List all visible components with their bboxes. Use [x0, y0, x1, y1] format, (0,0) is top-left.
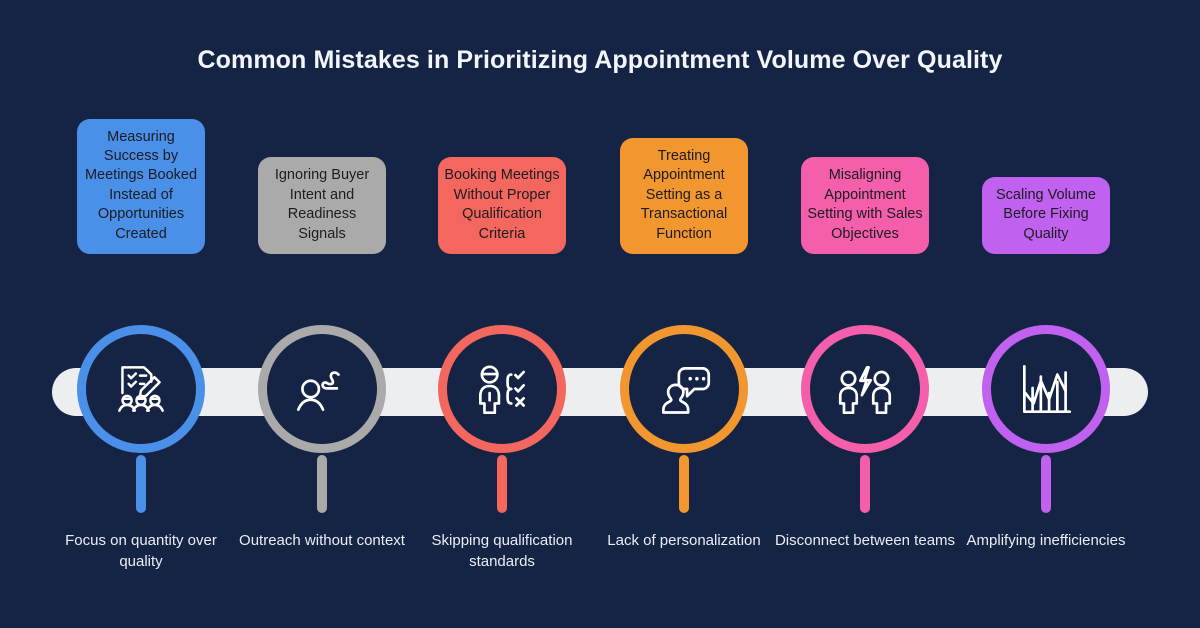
checklist-pencil-people-icon — [108, 356, 174, 422]
two-people-lightning-icon — [832, 356, 898, 422]
bar-chart-zigzag-icon — [1013, 356, 1079, 422]
step-circle-4[interactable] — [620, 325, 748, 453]
person-scribble-signal-icon — [289, 356, 355, 422]
connector-stem-bottom-2 — [317, 455, 327, 513]
step-caption-3: Skipping qualification standards — [409, 530, 595, 572]
step-caption-1: Focus on quantity over quality — [48, 530, 234, 572]
step-circle-2[interactable] — [258, 325, 386, 453]
step-circle-1[interactable] — [77, 325, 205, 453]
step-circle-5[interactable] — [801, 325, 929, 453]
person-check-cross-icon — [469, 356, 535, 422]
step-caption-5: Disconnect between teams — [772, 530, 958, 551]
step-card-6[interactable]: Scaling Volume Before Fixing Quality — [982, 177, 1110, 254]
step-card-5[interactable]: Misaligning Appointment Setting with Sal… — [801, 157, 929, 254]
steps-container: Measuring Success by Meetings Booked Ins… — [0, 0, 1200, 628]
step-card-2[interactable]: Ignoring Buyer Intent and Readiness Sign… — [258, 157, 386, 254]
connector-stem-bottom-1 — [136, 455, 146, 513]
step-2: Ignoring Buyer Intent and Readiness Sign… — [227, 0, 417, 628]
step-circle-6[interactable] — [982, 325, 1110, 453]
step-circle-3[interactable] — [438, 325, 566, 453]
step-4: Treating Appointment Setting as a Transa… — [589, 0, 779, 628]
step-card-1[interactable]: Measuring Success by Meetings Booked Ins… — [77, 119, 205, 254]
step-caption-6: Amplifying inefficiencies — [953, 530, 1139, 551]
connector-stem-bottom-5 — [860, 455, 870, 513]
connector-stem-bottom-3 — [497, 455, 507, 513]
step-caption-2: Outreach without context — [229, 530, 415, 551]
step-caption-4: Lack of personalization — [591, 530, 777, 551]
person-speech-bubble-icon — [651, 356, 717, 422]
step-1: Measuring Success by Meetings Booked Ins… — [46, 0, 236, 628]
step-3: Booking Meetings Without Proper Qualific… — [407, 0, 597, 628]
connector-stem-bottom-6 — [1041, 455, 1051, 513]
step-card-3[interactable]: Booking Meetings Without Proper Qualific… — [438, 157, 566, 254]
infographic-canvas: Common Mistakes in Prioritizing Appointm… — [0, 0, 1200, 628]
step-card-4[interactable]: Treating Appointment Setting as a Transa… — [620, 138, 748, 254]
step-6: Scaling Volume Before Fixing Quality Amp… — [951, 0, 1141, 628]
step-5: Misaligning Appointment Setting with Sal… — [770, 0, 960, 628]
connector-stem-bottom-4 — [679, 455, 689, 513]
